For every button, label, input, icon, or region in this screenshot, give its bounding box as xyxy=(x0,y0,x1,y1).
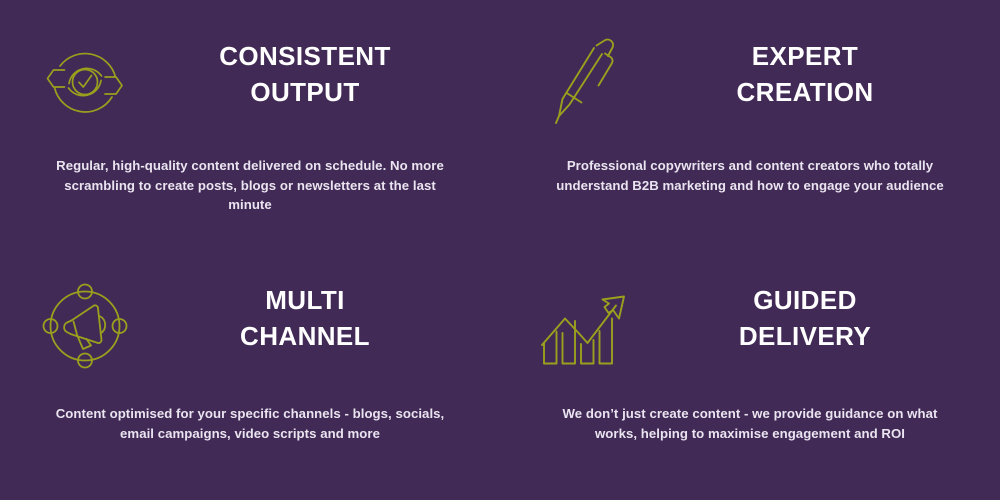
growth-chart-arrow-icon xyxy=(530,278,640,374)
pen-icon xyxy=(530,34,640,130)
feature-card-guided-delivery: GUIDED DELIVERY We don’t just create con… xyxy=(500,250,1000,500)
card-title: EXPERT CREATION xyxy=(640,34,970,110)
feature-card-expert-creation: EXPERT CREATION Professional copywriters… xyxy=(500,0,1000,250)
feature-grid-slide: CONSISTENT OUTPUT Regular, high-quality … xyxy=(0,0,1000,500)
card-description: We don’t just create content - we provid… xyxy=(530,404,970,443)
feature-card-multi-channel: MULTI CHANNEL Content optimised for your… xyxy=(0,250,500,500)
card-header: MULTI CHANNEL xyxy=(30,278,470,374)
card-header: GUIDED DELIVERY xyxy=(530,278,970,374)
card-description: Regular, high-quality content delivered … xyxy=(30,156,470,215)
card-title: GUIDED DELIVERY xyxy=(640,278,970,354)
feature-grid: CONSISTENT OUTPUT Regular, high-quality … xyxy=(0,0,1000,500)
card-title: MULTI CHANNEL xyxy=(140,278,470,354)
feature-card-consistent-output: CONSISTENT OUTPUT Regular, high-quality … xyxy=(0,0,500,250)
megaphone-network-icon xyxy=(30,278,140,374)
card-header: CONSISTENT OUTPUT xyxy=(30,34,470,130)
card-title: CONSISTENT OUTPUT xyxy=(140,34,470,110)
sync-check-icon xyxy=(30,34,140,130)
card-description: Professional copywriters and content cre… xyxy=(530,156,970,195)
card-header: EXPERT CREATION xyxy=(530,34,970,130)
card-description: Content optimised for your specific chan… xyxy=(30,404,470,443)
